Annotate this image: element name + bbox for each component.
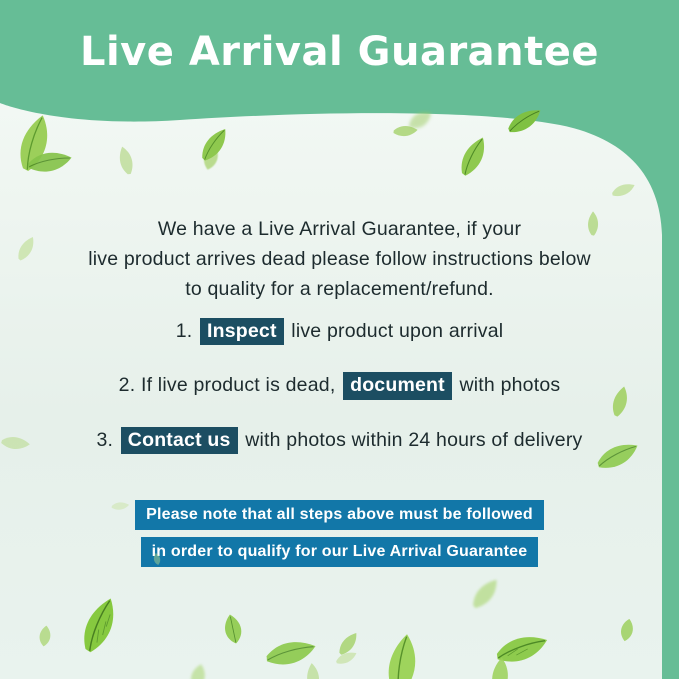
step-highlight-document[interactable]: document bbox=[343, 372, 452, 399]
step-item-2: 2. If live product is dead, document wit… bbox=[20, 372, 659, 399]
footer-banners: Please note that all steps above must be… bbox=[0, 500, 679, 567]
banner-row-1: Please note that all steps above must be… bbox=[0, 500, 679, 530]
step-suffix-1: live product upon arrival bbox=[291, 320, 503, 342]
intro-line-2: live product arrives dead please follow … bbox=[50, 244, 629, 274]
step-suffix-3: with photos within 24 hours of delivery bbox=[245, 429, 582, 451]
banner-row-2: in order to qualify for our Live Arrival… bbox=[0, 537, 679, 567]
step-item-3: 3. Contact us with photos within 24 hour… bbox=[20, 427, 659, 454]
step-number-3: 3. bbox=[97, 429, 114, 451]
step-prefix-2: If live product is dead, bbox=[141, 374, 336, 396]
steps-list: 1. Inspect live product upon arrival 2. … bbox=[20, 318, 659, 454]
step-number-1: 1. bbox=[176, 320, 193, 342]
step-highlight-contact-us[interactable]: Contact us bbox=[121, 427, 238, 454]
step-highlight-inspect[interactable]: Inspect bbox=[200, 318, 284, 345]
step-number-2: 2. bbox=[119, 374, 136, 396]
footer-banner-line-2: in order to qualify for our Live Arrival… bbox=[141, 537, 539, 567]
footer-banner-line-1: Please note that all steps above must be… bbox=[135, 500, 544, 530]
intro-line-1: We have a Live Arrival Guarantee, if you… bbox=[50, 214, 629, 244]
intro-paragraph: We have a Live Arrival Guarantee, if you… bbox=[50, 214, 629, 304]
content-layer: We have a Live Arrival Guarantee, if you… bbox=[0, 0, 679, 679]
step-item-1: 1. Inspect live product upon arrival bbox=[20, 318, 659, 345]
poster-root: Live Arrival Guarantee bbox=[0, 0, 679, 679]
step-suffix-2: with photos bbox=[459, 374, 560, 396]
intro-line-3: to quality for a replacement/refund. bbox=[50, 274, 629, 304]
